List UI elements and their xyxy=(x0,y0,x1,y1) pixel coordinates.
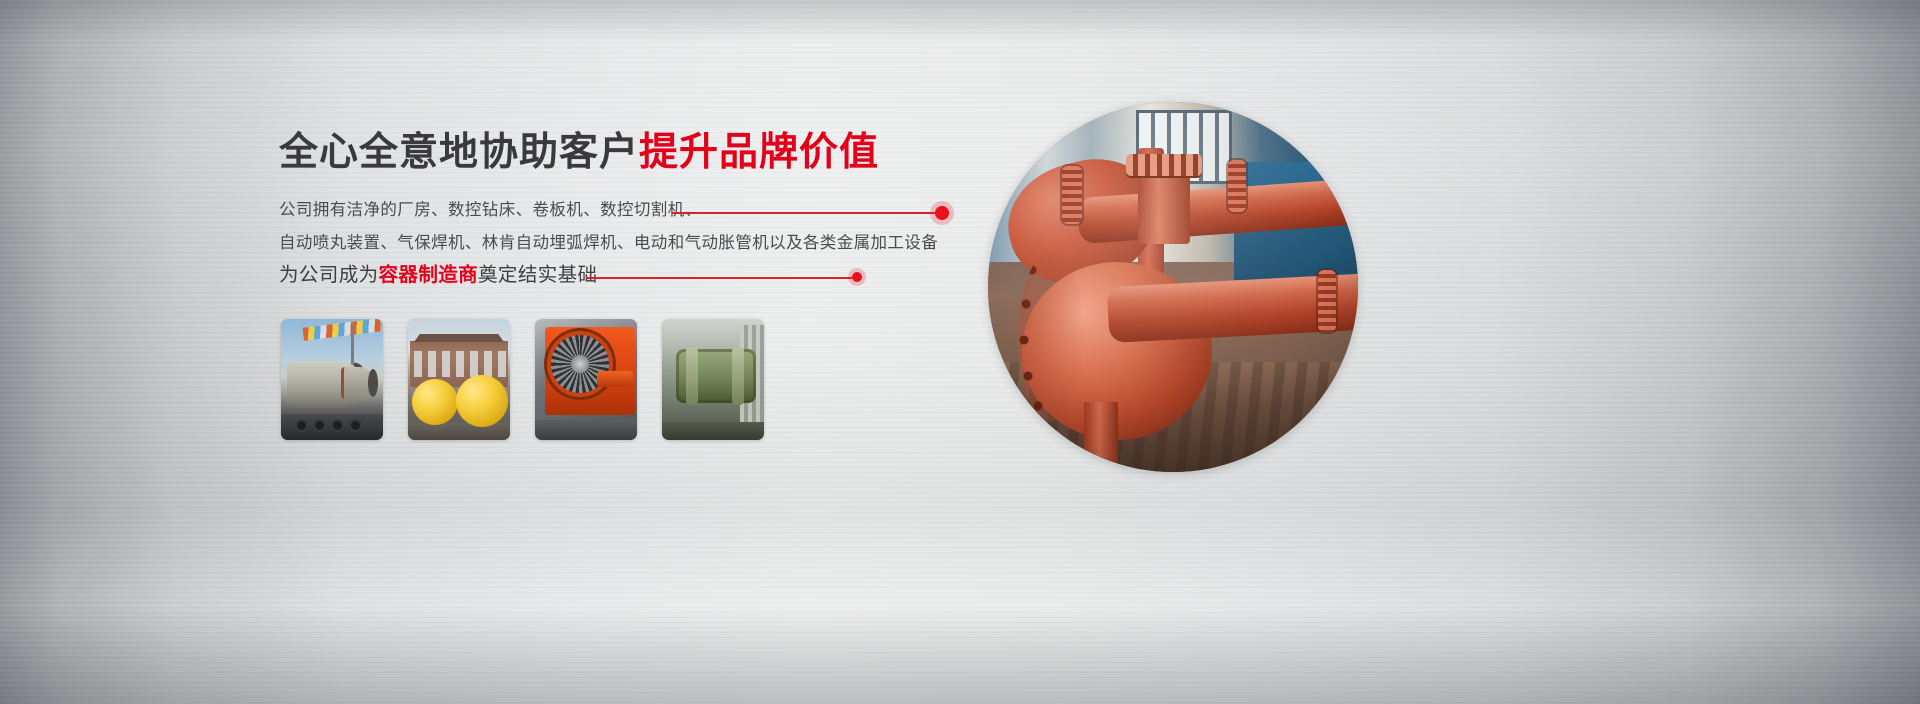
body-line-1: 公司拥有洁净的厂房、数控钻床、卷板机、数控切割机、 xyxy=(279,201,702,221)
floor-strip xyxy=(662,422,764,440)
machine-arm xyxy=(597,371,633,387)
pipe-flange xyxy=(1228,160,1246,212)
tagline-suffix: 奠定结实基础 xyxy=(478,264,597,286)
connector-dot-bottom xyxy=(852,272,862,282)
thumbnail-strip xyxy=(281,319,764,440)
drum-ring xyxy=(686,347,698,405)
page-title: 全心全意地协助客户提升品牌价值 xyxy=(279,132,879,175)
ground-strip xyxy=(408,423,510,440)
vessel-support-leg xyxy=(1084,402,1118,472)
hero-pressure-vessel-photo[interactable] xyxy=(988,102,1358,472)
thumbnail-orange-machinery[interactable] xyxy=(535,319,637,440)
thumb-image-1 xyxy=(281,319,383,440)
flywheel-hub xyxy=(571,355,589,373)
utility-pole xyxy=(351,325,354,367)
thumbnail-yellow-spherical-tanks[interactable] xyxy=(408,319,510,440)
truck-wheel xyxy=(295,419,308,432)
connector-line-bottom xyxy=(586,277,852,279)
connector-dot-top xyxy=(935,206,949,220)
truck-wheel xyxy=(349,419,362,432)
thumb-image-2 xyxy=(408,319,510,440)
tagline: 为公司成为容器制造商奠定结实基础 xyxy=(279,264,597,287)
sphere-bolt-flange xyxy=(1018,252,1084,422)
nozzle-bolt-flange xyxy=(1126,154,1202,176)
truck-wheel xyxy=(313,419,326,432)
banner-content: 全心全意地协助客户提升品牌价值 公司拥有洁净的厂房、数控钻床、卷板机、数控切割机… xyxy=(0,0,1920,704)
thumb-image-3 xyxy=(535,319,637,440)
bunting-flags xyxy=(302,319,381,341)
headline-dark-text: 全心全意地协助客户 xyxy=(279,131,639,174)
tagline-highlight: 容器制造商 xyxy=(379,264,479,286)
truck-wheel xyxy=(331,419,344,432)
pipe-flange xyxy=(1062,166,1082,224)
pipe-flange xyxy=(1318,270,1336,332)
body-line-2: 自动喷丸装置、气保焊机、林肯自动埋弧焊机、电动和气动胀管机以及各类金属加工设备 xyxy=(279,234,938,254)
banner-stage: 全心全意地协助客户提升品牌价值 公司拥有洁净的厂房、数控钻床、卷板机、数控切割机… xyxy=(0,0,1920,704)
building-windows xyxy=(414,351,506,377)
yellow-tank xyxy=(456,375,508,427)
thumbnail-vessel-shell-on-truck[interactable] xyxy=(281,319,383,440)
headline-red-text: 提升品牌价值 xyxy=(639,131,879,174)
tagline-prefix: 为公司成为 xyxy=(279,264,379,286)
drum-ring xyxy=(732,347,744,405)
thumbnail-green-rotary-mill[interactable] xyxy=(662,319,764,440)
connector-line-top xyxy=(672,212,936,214)
vessel-nozzle xyxy=(341,367,375,399)
thumb-image-4 xyxy=(662,319,764,440)
yellow-tank xyxy=(412,379,458,425)
machine-base xyxy=(535,420,637,440)
